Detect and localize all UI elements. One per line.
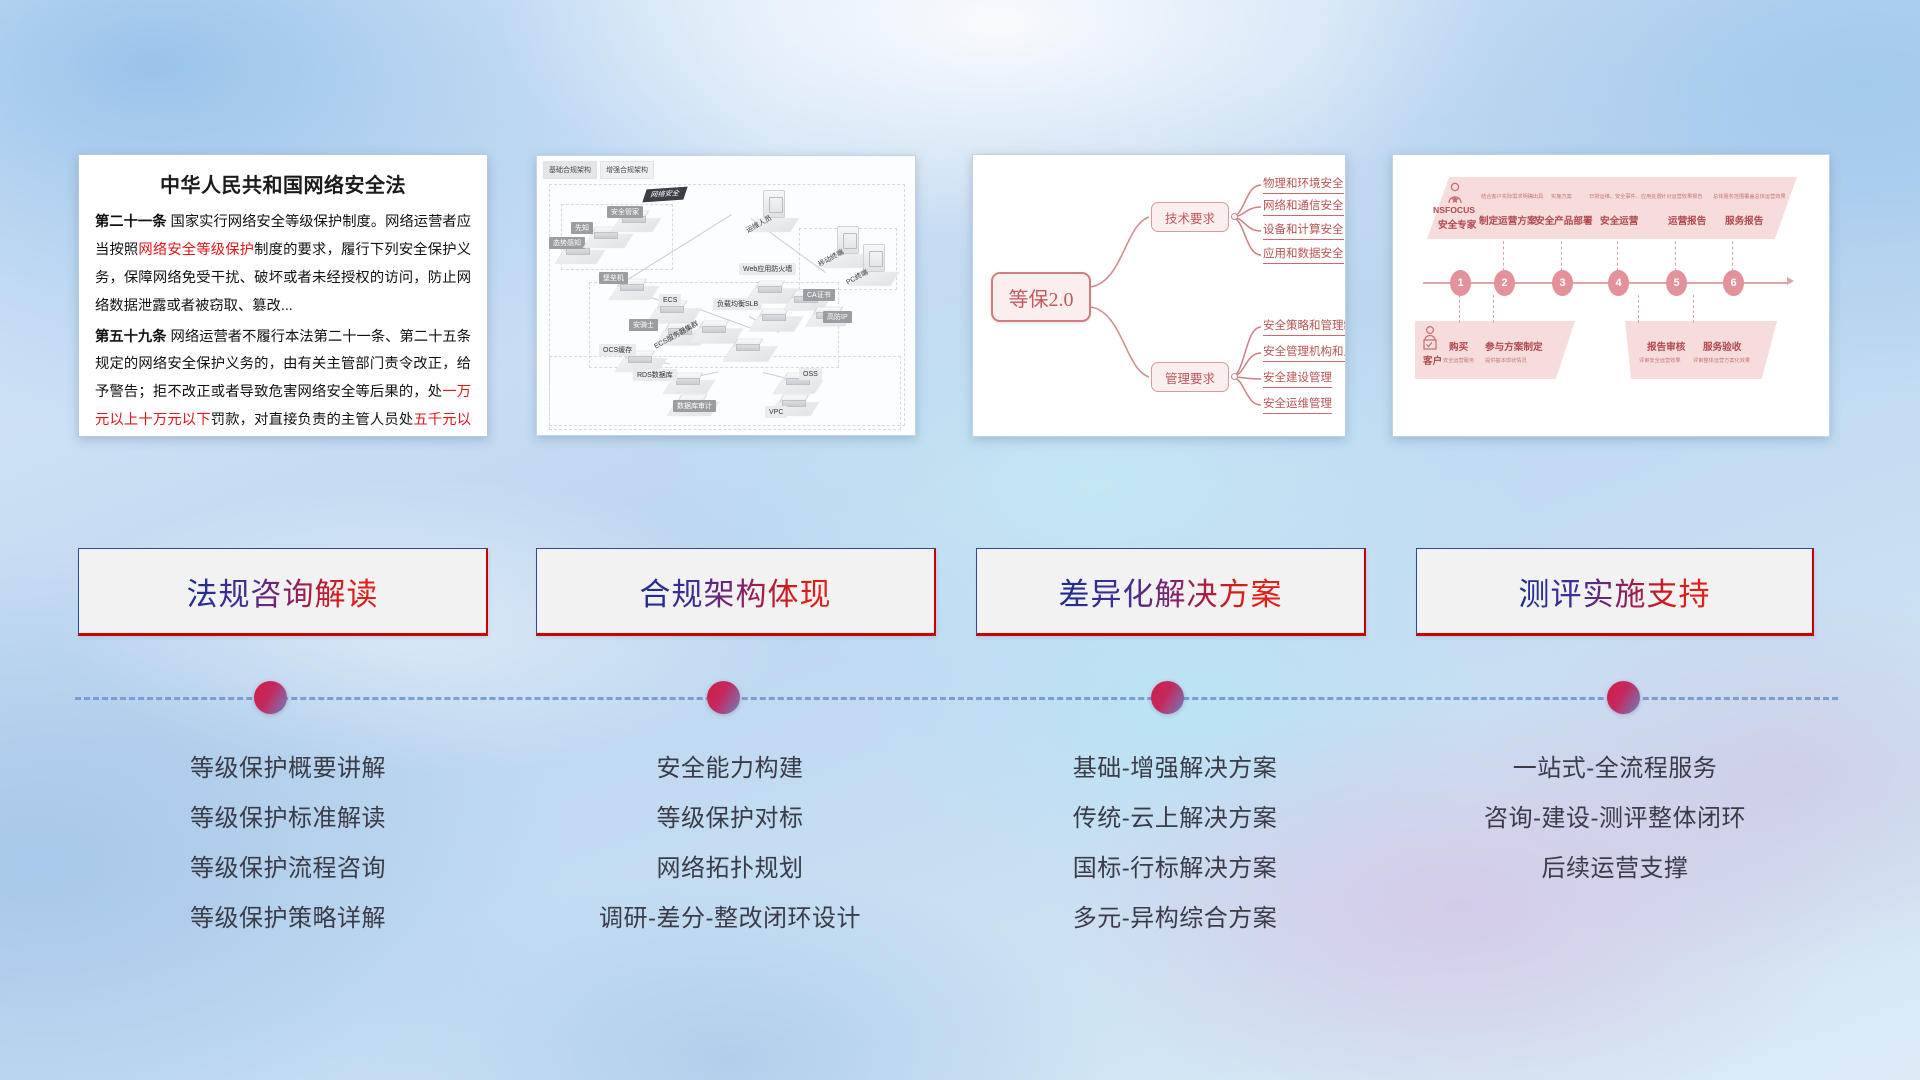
- customer-role-label: 客户: [1423, 353, 1442, 367]
- law-title: 中华人民共和国网络安全法: [95, 169, 471, 198]
- heading-box-compliance-architecture[interactable]: 合规架构体现: [536, 548, 936, 636]
- tab-enhanced-architecture[interactable]: 增强合规架构: [600, 161, 654, 179]
- list-item: 传统-云上解决方案: [965, 794, 1385, 844]
- leader-line-2: [1503, 241, 1504, 271]
- label-bastion-host: 堡垒机: [599, 272, 628, 284]
- provider-title-2: 安全产品部署: [1535, 213, 1593, 227]
- timeline-marker-2[interactable]: [707, 681, 740, 714]
- heading-box-regulation-consulting[interactable]: 法规咨询解读: [78, 548, 488, 636]
- node-pc: [863, 244, 885, 272]
- customer-sub-4: 评审整体运营方案化效果: [1693, 357, 1750, 364]
- label-ocs-cache: OCS缓存: [599, 344, 636, 356]
- label-web-application-firewall: Web应用防火墙: [739, 263, 796, 275]
- law-article-59: 第五十九条 网络运营者不履行本法第二十一条、第二十五条规定的网络安全保护义务的，…: [95, 324, 471, 438]
- leader-line-5: [1675, 241, 1676, 271]
- heading-label-1: 法规咨询解读: [187, 569, 379, 614]
- list-column-3: 基础-增强解决方案 传统-云上解决方案 国标-行标解决方案 多元-异构综合方案: [965, 744, 1385, 944]
- law-article-59-label: 第五十九条: [95, 329, 167, 345]
- provider-title-4: 运营报告: [1668, 213, 1706, 227]
- provider-title-3: 安全运营: [1600, 213, 1638, 227]
- mindmap-leaf-security-operations: 安全运维管理: [1263, 395, 1332, 414]
- timeline-step-3[interactable]: 3: [1552, 270, 1573, 296]
- node-waf: [757, 278, 783, 296]
- provider-sub-3: 日常运维、安全事件、应用处置: [1589, 193, 1662, 200]
- customer-sub-1: 安全运营服务: [1443, 357, 1474, 364]
- leader-line-3: [1561, 241, 1562, 271]
- provider-title-5: 服务报告: [1725, 213, 1763, 227]
- provider-sub-4: 针对运营效果报告: [1661, 193, 1703, 200]
- customer-title-1: 购买: [1449, 339, 1468, 353]
- leader-line-1: [1459, 295, 1460, 323]
- timeline-marker-3[interactable]: [1151, 681, 1184, 714]
- leader-line-9: [1693, 295, 1694, 323]
- provider-sub-2: 实施方案: [1551, 193, 1572, 200]
- label-security-butler: 安全管家: [607, 206, 643, 218]
- architecture-diagram: 基础合规架构 增强合规架构 网络安全 态势感知: [537, 156, 915, 435]
- heading-label-3: 差异化解决方案: [1059, 569, 1283, 614]
- label-anqishi-agent: 安骑士: [629, 319, 658, 331]
- customer-sub-3: 评审安全运营效果: [1639, 357, 1681, 364]
- list-item: 网络拓扑规划: [520, 844, 940, 894]
- customer-sub-2: 提供基本现状情况: [1485, 357, 1527, 364]
- timeline-step-5[interactable]: 5: [1666, 270, 1687, 296]
- label-ca-certificate: CA证书: [803, 289, 835, 301]
- list-item: 等级保护标准解读: [78, 794, 498, 844]
- list-item: 等级保护对标: [520, 794, 940, 844]
- label-xianzhi: 先知: [571, 222, 593, 234]
- list-item: 多元-异构综合方案: [965, 894, 1385, 944]
- list-item: 一站式-全流程服务: [1400, 744, 1830, 794]
- heading-label-2: 合规架构体现: [640, 569, 832, 614]
- label-anti-ddos-ip: 高防IP: [823, 311, 852, 323]
- mindmap-leaf-security-construction: 安全建设管理: [1263, 369, 1332, 388]
- mindmap-leaf-device-computing: 设备和计算安全: [1263, 221, 1344, 240]
- list-column-1: 等级保护概要讲解 等级保护标准解读 等级保护流程咨询 等级保护策略详解: [78, 744, 498, 944]
- expert-role-line1: NSFOCUS: [1433, 205, 1475, 215]
- label-rds-database: RDS数据库: [633, 369, 677, 381]
- service-timeline: NSFOCUS 安全专家 客户 1 2 3 4 5 6: [1393, 155, 1829, 436]
- leader-line-6: [1732, 241, 1733, 271]
- card-service-timeline: NSFOCUS 安全专家 客户 1 2 3 4 5 6: [1392, 154, 1830, 437]
- mindmap-branch-technical[interactable]: 技术要求: [1151, 202, 1229, 232]
- timeline-marker-4[interactable]: [1607, 681, 1640, 714]
- heading-label-4: 测评实施支持: [1519, 569, 1711, 614]
- heading-box-evaluation-support[interactable]: 测评实施支持: [1416, 548, 1814, 636]
- timeline-dashed-line: [75, 697, 1838, 700]
- label-oss: OSS: [799, 368, 822, 380]
- node-ecs-3: [735, 336, 761, 354]
- heading-box-differentiated-solution[interactable]: 差异化解决方案: [976, 548, 1366, 636]
- expert-person-icon: [1445, 182, 1465, 204]
- leader-line-7: [1493, 295, 1494, 323]
- label-load-balancer-slb: 负载均衡SLB: [713, 298, 762, 310]
- list-item: 等级保护流程咨询: [78, 844, 498, 894]
- mindmap-leaf-security-org-personnel: 安全管理机构和人员: [1263, 343, 1346, 362]
- timeline-arrow-icon: [1787, 277, 1794, 285]
- node-ecs-2: [701, 318, 727, 336]
- label-ecs: ECS: [659, 294, 681, 306]
- tab-basic-architecture[interactable]: 基础合规架构: [543, 161, 597, 179]
- timeline-step-6[interactable]: 6: [1723, 270, 1744, 296]
- timeline-band-provider: [1427, 177, 1797, 239]
- law-article-21-highlight: 网络安全等级保护: [138, 242, 254, 258]
- customer-title-3: 报告审核: [1647, 339, 1685, 353]
- mindmap-leaf-physical-environment: 物理和环境安全: [1263, 175, 1344, 194]
- card-law-text: 中华人民共和国网络安全法 第二十一条 国家实行网络安全等级保护制度。网络运营者应…: [78, 154, 488, 437]
- card-cloud-architecture: 基础合规架构 增强合规架构 网络安全 态势感知: [536, 155, 916, 436]
- list-item: 咨询-建设-测评整体闭环: [1400, 794, 1830, 844]
- expert-role-line2: 安全专家: [1438, 217, 1476, 231]
- list-column-4: 一站式-全流程服务 咨询-建设-测评整体闭环 后续运营支撑: [1400, 744, 1830, 894]
- mindmap-leaf-security-policy: 安全策略和管理制度: [1263, 317, 1346, 336]
- timeline-marker-1[interactable]: [254, 681, 287, 714]
- list-column-2: 安全能力构建 等级保护对标 网络拓扑规划 调研-差分-整改闭环设计: [520, 744, 940, 944]
- mindmap-dot-technical[interactable]: [1231, 213, 1238, 220]
- leader-line-8: [1638, 295, 1639, 323]
- mindmap-leaf-network-communication: 网络和通信安全: [1263, 197, 1344, 216]
- timeline-step-4[interactable]: 4: [1608, 270, 1629, 296]
- list-item: 等级保护概要讲解: [78, 744, 498, 794]
- node-rds: [675, 370, 701, 388]
- provider-sub-5: 总体服务范围覆盖总体运营效果: [1713, 193, 1786, 200]
- architecture-tabs: 基础合规架构 增强合规架构: [543, 161, 654, 179]
- list-item: 调研-差分-整改闭环设计: [520, 894, 940, 944]
- law-article-21: 第二十一条 国家实行网络安全等级保护制度。网络运营者应当按照网络安全等级保护制度…: [95, 209, 471, 321]
- law-article-21-label: 第二十一条: [95, 214, 167, 230]
- node-ops-user: [763, 190, 785, 218]
- mindmap-leaf-application-data: 应用和数据安全: [1263, 245, 1344, 264]
- customer-title-2: 参与方案制定: [1485, 339, 1543, 353]
- list-item: 安全能力构建: [520, 744, 940, 794]
- label-database-audit: 数据库审计: [673, 400, 716, 412]
- zone-bottom: [549, 356, 901, 430]
- timeline-step-1[interactable]: 1: [1450, 270, 1471, 296]
- label-vpc: VPC: [765, 406, 787, 418]
- list-item: 国标-行标解决方案: [965, 844, 1385, 894]
- list-item: 等级保护策略详解: [78, 894, 498, 944]
- card-mindmap: 等保2.0 技术要求 物理和环境安全 网络和通信安全 设备和计算安全 应用和数据…: [972, 154, 1346, 437]
- mindmap-branch-management[interactable]: 管理要求: [1151, 362, 1229, 392]
- law-article-59-text-b: 罚款，对直接负责的主管人员处: [211, 412, 414, 428]
- list-item: 基础-增强解决方案: [965, 744, 1385, 794]
- mindmap-root-node[interactable]: 等保2.0: [991, 272, 1091, 322]
- list-item: 后续运营支撑: [1400, 844, 1830, 894]
- timeline-step-2[interactable]: 2: [1494, 270, 1515, 296]
- provider-sub-1: 结合客户实际需求明确出具: [1481, 193, 1543, 200]
- mindmap-dot-management[interactable]: [1231, 373, 1238, 380]
- label-situational-awareness: 态势感知: [549, 237, 585, 249]
- customer-title-4: 服务验收: [1703, 339, 1741, 353]
- provider-title-1: 制定运营方案: [1479, 213, 1537, 227]
- mindmap: 等保2.0 技术要求 物理和环境安全 网络和通信安全 设备和计算安全 应用和数据…: [973, 155, 1345, 436]
- customer-person-icon: [1421, 325, 1439, 351]
- leader-line-4: [1617, 241, 1618, 271]
